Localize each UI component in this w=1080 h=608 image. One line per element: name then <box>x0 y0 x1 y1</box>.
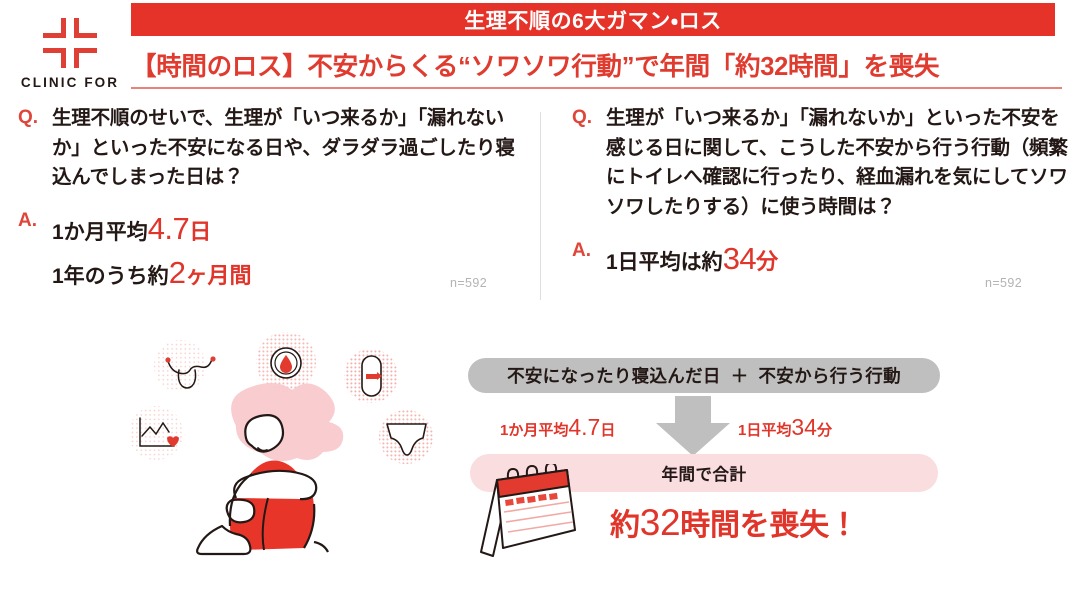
answer-line-1-prefix: 1か月平均 <box>52 221 148 244</box>
page-header: CLINIC FOR 生理不順の6大ガマン・ロス 【時間のロス】不安からくる“ソ… <box>0 0 1080 100</box>
sanitary-pad-icon <box>362 356 382 396</box>
page-title: 生理不順の6大ガマン・ロス <box>464 5 722 35</box>
metric-right-value: 34 <box>791 414 817 440</box>
summary-section: 不安になったり寝込んだ日 ＋ 不安から行う行動 1か月平均4.7日 1日平均34… <box>460 352 960 567</box>
desk-calendar-icon <box>463 464 593 560</box>
answer-line-2-prefix: 1年のうち約 <box>52 265 169 288</box>
sample-size-right: n=592 <box>985 276 1022 290</box>
header-title-bar: 生理不順の6大ガマン・ロス <box>131 3 1055 36</box>
metric-right: 1日平均34分 <box>738 414 832 441</box>
answer-line-1-value: 4.7 <box>148 211 190 246</box>
final-result-suffix: 時間を喪失！ <box>680 509 858 542</box>
clinic-cross-icon <box>43 18 97 68</box>
question-text: 生理が「いつ来るか」「漏れないか」といった不安を感じる日に関して、こうした不安か… <box>606 104 1072 223</box>
metric-right-prefix: 1日平均 <box>738 422 791 439</box>
answer-line-2-value: 2 <box>169 255 186 290</box>
metric-right-unit: 分 <box>817 422 832 439</box>
question-marker: Q. <box>572 104 606 133</box>
formula-pill: 不安になったり寝込んだ日 ＋ 不安から行う行動 <box>468 358 940 393</box>
metric-left-unit: 日 <box>600 422 615 439</box>
page-subtitle: 【時間のロス】不安からくる“ソワソワ行動”で年間「約32時間」を喪失 <box>131 46 939 83</box>
qa-column-left: Q. 生理不順のせいで、生理が「いつ来るか」「漏れないか」といった不安になる日や… <box>18 104 518 295</box>
qa-column-right: Q. 生理が「いつ来るか」「漏れないか」といった不安を感じる日に関して、こうした… <box>572 104 1072 281</box>
blood-drop-clock-icon <box>271 348 301 378</box>
answer-line-1-unit: 日 <box>189 219 211 244</box>
qa-section: Q. 生理不順のせいで、生理が「いつ来るか」「漏れないか」といった不安になる日や… <box>0 104 1080 316</box>
answer-line-1-value: 34 <box>723 241 756 276</box>
final-result-prefix: 約 <box>610 509 640 542</box>
arrow-down-head-icon <box>656 423 730 456</box>
total-label: 年間で合計 <box>662 461 747 485</box>
question-marker: Q. <box>18 104 52 133</box>
final-result: 約32時間を喪失！ <box>610 500 858 544</box>
sample-size-left: n=592 <box>450 276 487 290</box>
plus-icon: ＋ <box>721 363 759 388</box>
answer-line-1: 1日平均は約34分 <box>606 237 1072 281</box>
question-block-right: Q. 生理が「いつ来るか」「漏れないか」といった不安を感じる日に関して、こうした… <box>572 104 1072 223</box>
answer-line-2-unit: ヶ月間 <box>185 263 251 288</box>
arrow-down-icon <box>675 396 711 424</box>
answer-marker: A. <box>18 207 52 236</box>
seated-woman-illustration <box>118 330 448 580</box>
answer-line-1: 1か月平均4.7日 <box>52 207 518 251</box>
answer-block-left: A. 1か月平均4.7日 1年のうち約2ヶ月間 <box>18 207 518 295</box>
answer-text: 1日平均は約34分 <box>606 237 1072 281</box>
header-divider <box>131 87 1062 89</box>
brand-logo-text: CLINIC FOR <box>16 75 124 90</box>
formula-right-label: 不安から行う行動 <box>759 363 901 388</box>
answer-block-right: A. 1日平均は約34分 <box>572 237 1072 281</box>
question-text: 生理不順のせいで、生理が「いつ来るか」「漏れないか」といった不安になる日や、ダラ… <box>52 104 518 193</box>
question-block-left: Q. 生理不順のせいで、生理が「いつ来るか」「漏れないか」といった不安になる日や… <box>18 104 518 193</box>
answer-marker: A. <box>572 237 606 266</box>
formula-left-label: 不安になったり寝込んだ日 <box>507 363 721 388</box>
answer-line-1-unit: 分 <box>756 249 778 274</box>
answer-line-2: 1年のうち約2ヶ月間 <box>52 251 518 295</box>
metric-left: 1か月平均4.7日 <box>500 414 615 441</box>
answer-line-1-prefix: 1日平均は約 <box>606 251 723 274</box>
final-result-value: 32 <box>640 502 681 543</box>
metric-left-prefix: 1か月平均 <box>500 422 568 439</box>
qa-column-divider <box>540 112 541 300</box>
metric-left-value: 4.7 <box>568 414 600 440</box>
header-subtitle: 【時間のロス】不安からくる“ソワソワ行動”で年間「約32時間」を喪失 <box>131 44 1061 84</box>
answer-text: 1か月平均4.7日 1年のうち約2ヶ月間 <box>52 207 518 295</box>
brand-logo: CLINIC FOR <box>16 18 124 90</box>
